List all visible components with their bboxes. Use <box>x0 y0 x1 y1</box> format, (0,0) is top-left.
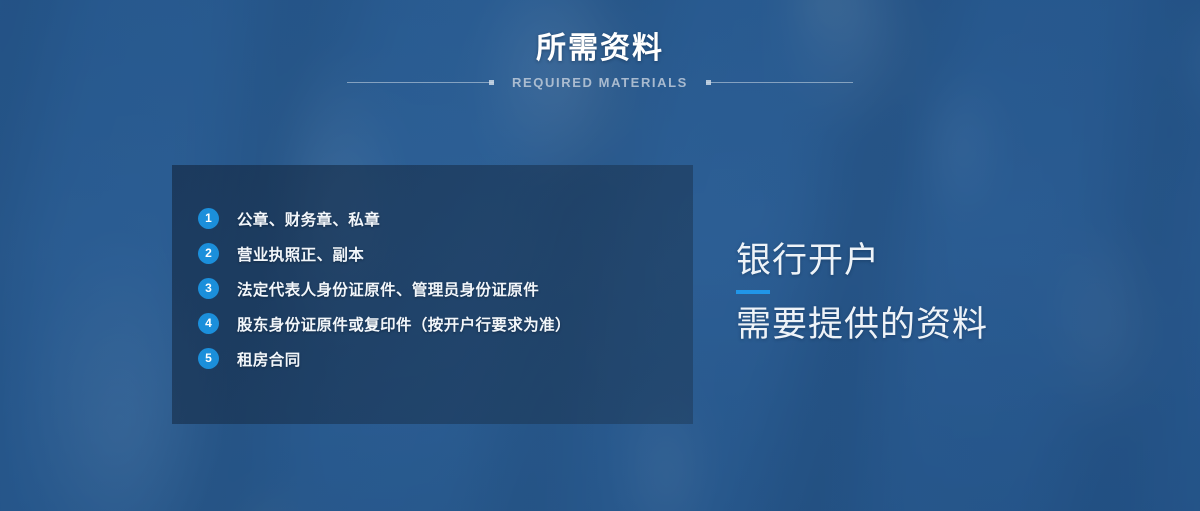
required-materials-banner: 所需资料 REQUIRED MATERIALS 1 公章、财务章、私章 2 营业… <box>0 0 1200 511</box>
page-title: 所需资料 <box>0 0 1200 68</box>
list-item: 2 营业执照正、副本 <box>198 236 571 271</box>
materials-panel: 1 公章、财务章、私章 2 营业执照正、副本 3 法定代表人身份证原件、管理员身… <box>172 165 693 424</box>
banner-header: 所需资料 REQUIRED MATERIALS <box>0 0 1200 90</box>
subtitle-row: REQUIRED MATERIALS <box>0 75 1200 90</box>
list-item: 5 租房合同 <box>198 341 571 376</box>
list-number-badge: 1 <box>198 208 219 229</box>
list-item-label: 营业执照正、副本 <box>237 243 364 265</box>
page-subtitle: REQUIRED MATERIALS <box>512 75 688 90</box>
list-item: 1 公章、财务章、私章 <box>198 201 571 236</box>
list-item-label: 租房合同 <box>237 348 301 370</box>
headline-block: 银行开户 需要提供的资料 <box>736 242 988 344</box>
list-item: 3 法定代表人身份证原件、管理员身份证原件 <box>198 271 571 306</box>
decorative-dot-right <box>706 80 711 85</box>
headline-accent-rule <box>736 290 770 294</box>
decorative-line-left <box>347 82 494 83</box>
list-number-badge: 5 <box>198 348 219 369</box>
list-number-badge: 2 <box>198 243 219 264</box>
list-number-badge: 3 <box>198 278 219 299</box>
headline-line-2: 需要提供的资料 <box>736 306 988 344</box>
list-item: 4 股东身份证原件或复印件（按开户行要求为准） <box>198 306 571 341</box>
materials-list: 1 公章、财务章、私章 2 营业执照正、副本 3 法定代表人身份证原件、管理员身… <box>198 201 571 376</box>
list-item-label: 股东身份证原件或复印件（按开户行要求为准） <box>237 313 571 335</box>
list-number-badge: 4 <box>198 313 219 334</box>
list-item-label: 法定代表人身份证原件、管理员身份证原件 <box>237 278 539 300</box>
list-item-label: 公章、财务章、私章 <box>237 208 380 230</box>
headline-line-1: 银行开户 <box>736 242 988 280</box>
decorative-dot-left <box>489 80 494 85</box>
decorative-line-right <box>706 82 853 83</box>
